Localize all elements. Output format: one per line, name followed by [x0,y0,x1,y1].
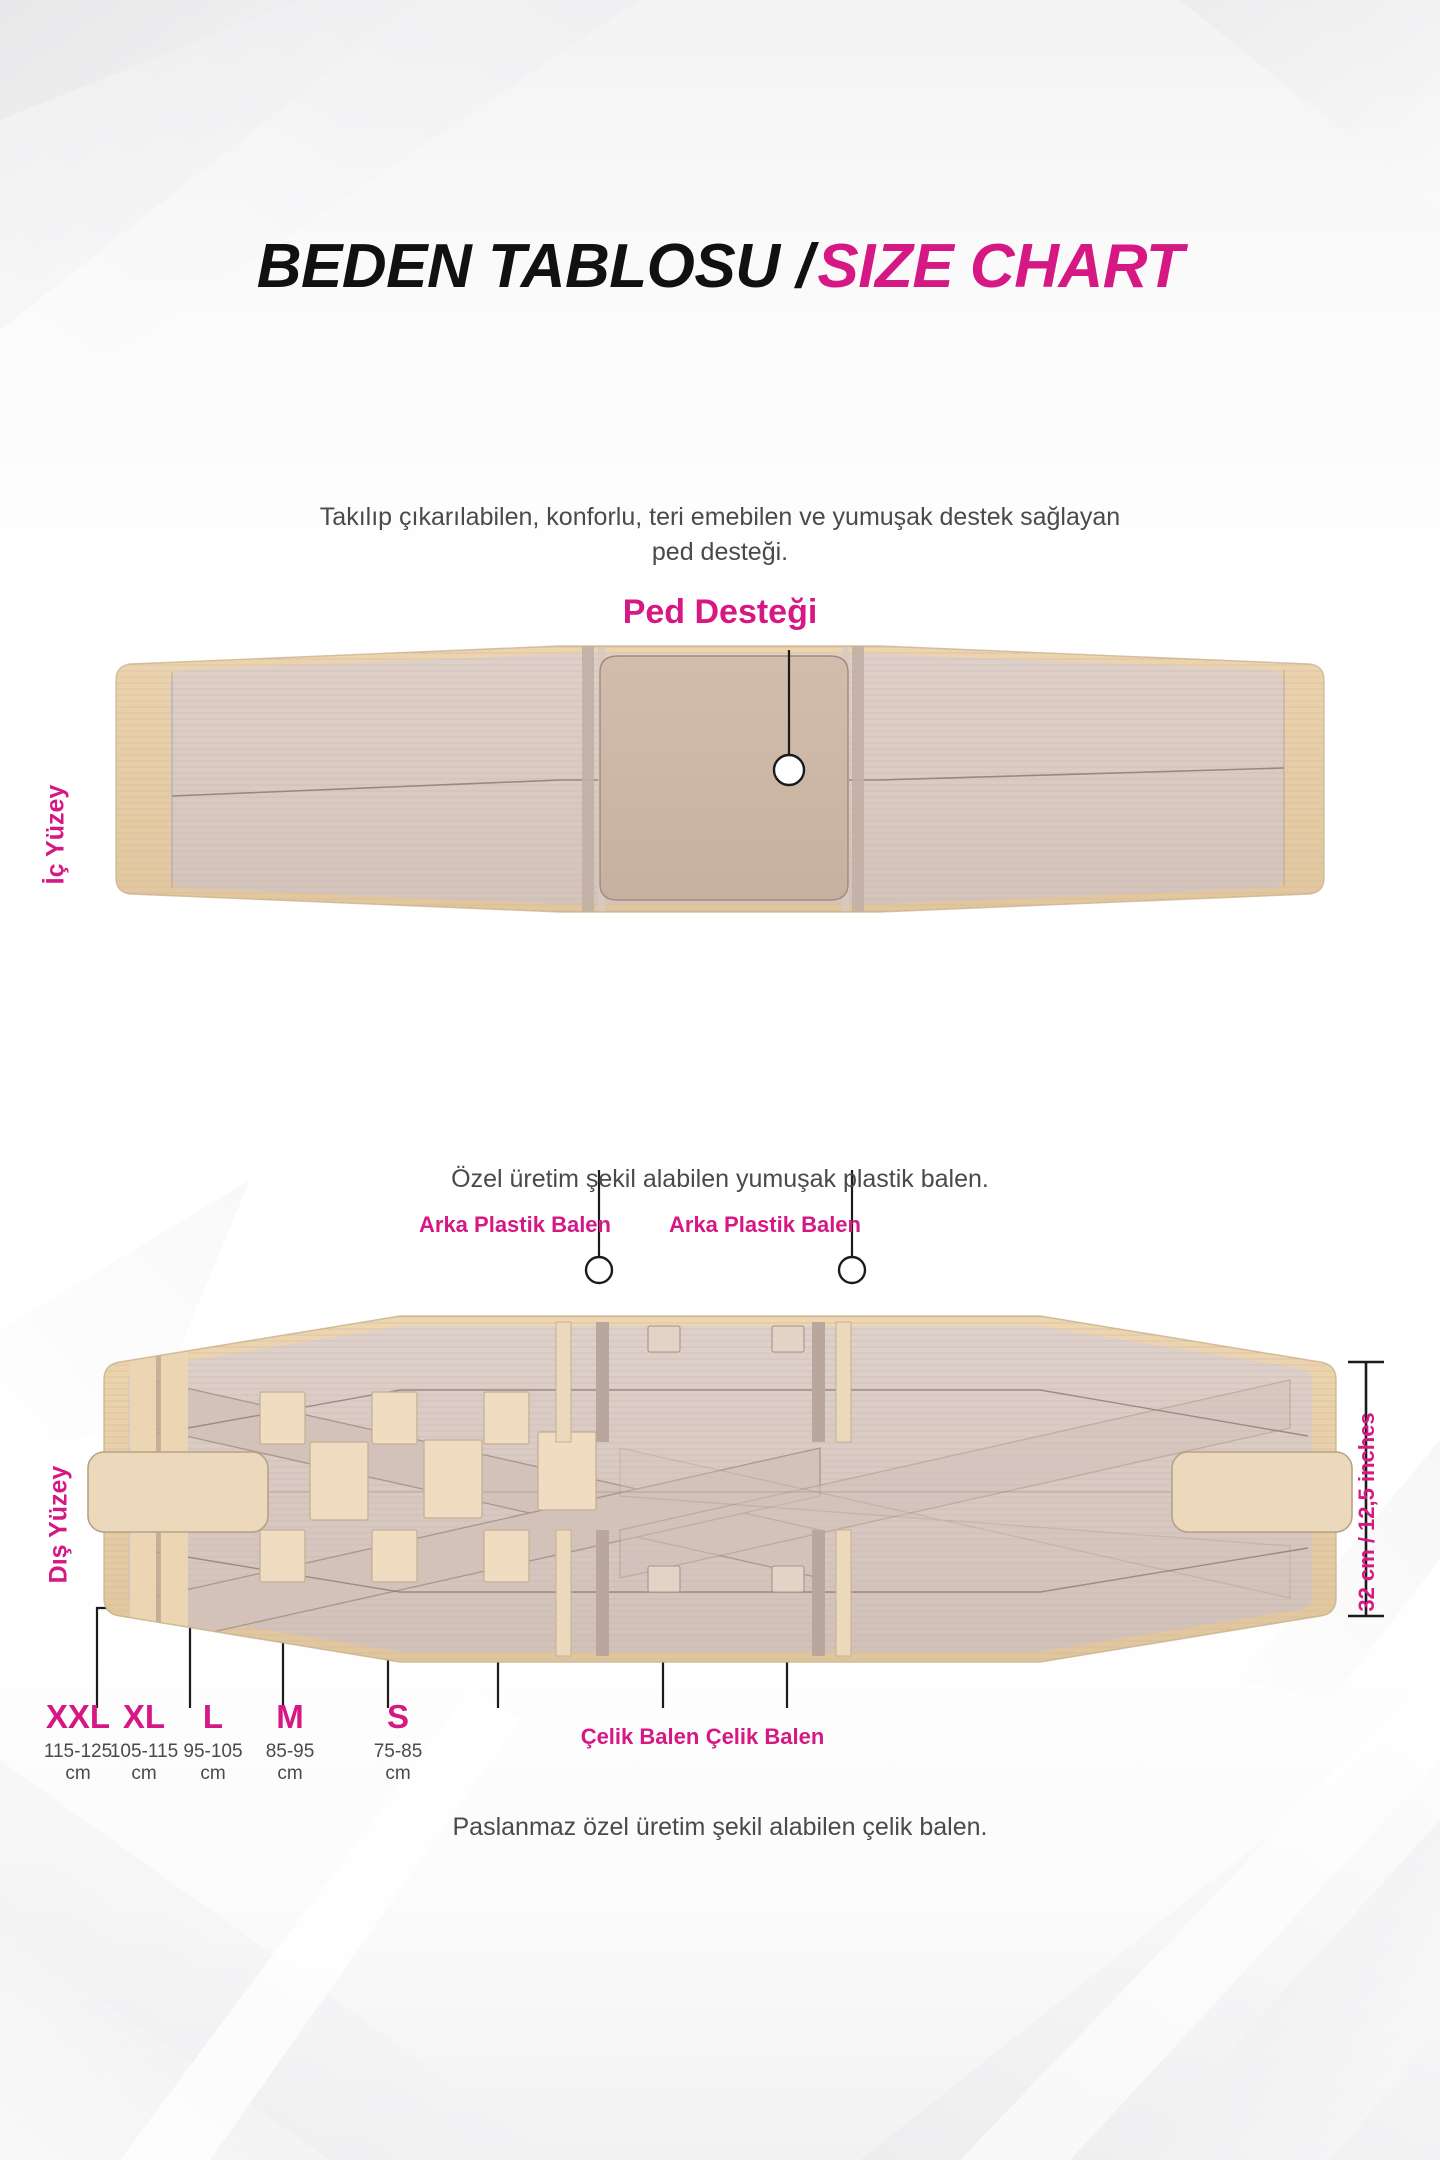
plastic-stay-description-text: Özel üretim şekil alabilen yumuşak plast… [300,1162,1140,1197]
belt-height-dimension-value: 32 cm / 12,5 inches [1354,1392,1380,1632]
outer-surface-label: Dış Yüzey [45,1440,74,1610]
inner-surface-label: İç Yüzey [42,755,71,915]
size-column-s: S 75-85 cm [350,1700,446,1786]
plastic-left-callout-dot [586,1257,612,1283]
size-range-unit-xxl: cm [65,1763,90,1784]
steel-right-callout-dot [774,1565,800,1591]
outer-belt-closure-tabs [88,1452,1352,1532]
page-title-turkish: BEDEN TABLOSU / [257,232,813,301]
pad-callout-dot [774,755,804,785]
plastic-stay-left-callout-label: Arka Plastik Balen [400,1212,630,1239]
size-m-dot [375,1549,401,1575]
belt-height-dimension-label: 32 cm / 12,5 inches [1316,1150,1342,1390]
inner-belt-body [116,646,1326,916]
size-range-value-s: 75-85 [374,1741,423,1762]
size-range-value-l: 95-105 [183,1741,242,1762]
outer-belt-body [104,1316,1336,1666]
steel-stay-description-text: Paslanmaz özel üretim şekil alabilen çel… [430,1810,1010,1845]
steel-left-callout-dot [650,1565,676,1591]
size-range-unit-xl: cm [131,1763,156,1784]
size-range-unit-s: cm [385,1763,410,1784]
size-range-m: 85-95 cm [242,1741,338,1787]
pad-support-callout-label: Ped Desteği [440,592,1000,633]
size-range-s: 75-85 cm [350,1741,446,1787]
size-l-dot [270,1549,296,1575]
size-xxl-dot [147,1549,173,1575]
size-range-value-m: 85-95 [266,1741,315,1762]
inner-surface-belt-illustration [0,620,1440,1040]
plastic-right-callout-dot [839,1257,865,1283]
page-title-english: SIZE CHART [817,232,1183,301]
pad-description-text: Takılıp çıkarılabilen, konforlu, teri em… [300,500,1140,569]
size-range-unit-l: cm [200,1763,225,1784]
plastic-stay-right-callout-label: Arka Plastik Balen [650,1212,880,1239]
size-range-unit-m: cm [277,1763,302,1784]
inner-belt-pad [600,656,848,900]
size-xl-dot [177,1549,203,1575]
outer-surface-belt-illustration [0,1230,1440,1750]
size-label-s: S [350,1700,446,1735]
size-s-dot [485,1549,511,1575]
size-column-m: M 85-95 cm [242,1700,338,1786]
page-title: BEDEN TABLOSU / SIZE CHART [0,236,1440,298]
steel-stay-right-callout-label: Çelik Balen [680,1724,850,1751]
size-label-m: M [242,1700,338,1735]
